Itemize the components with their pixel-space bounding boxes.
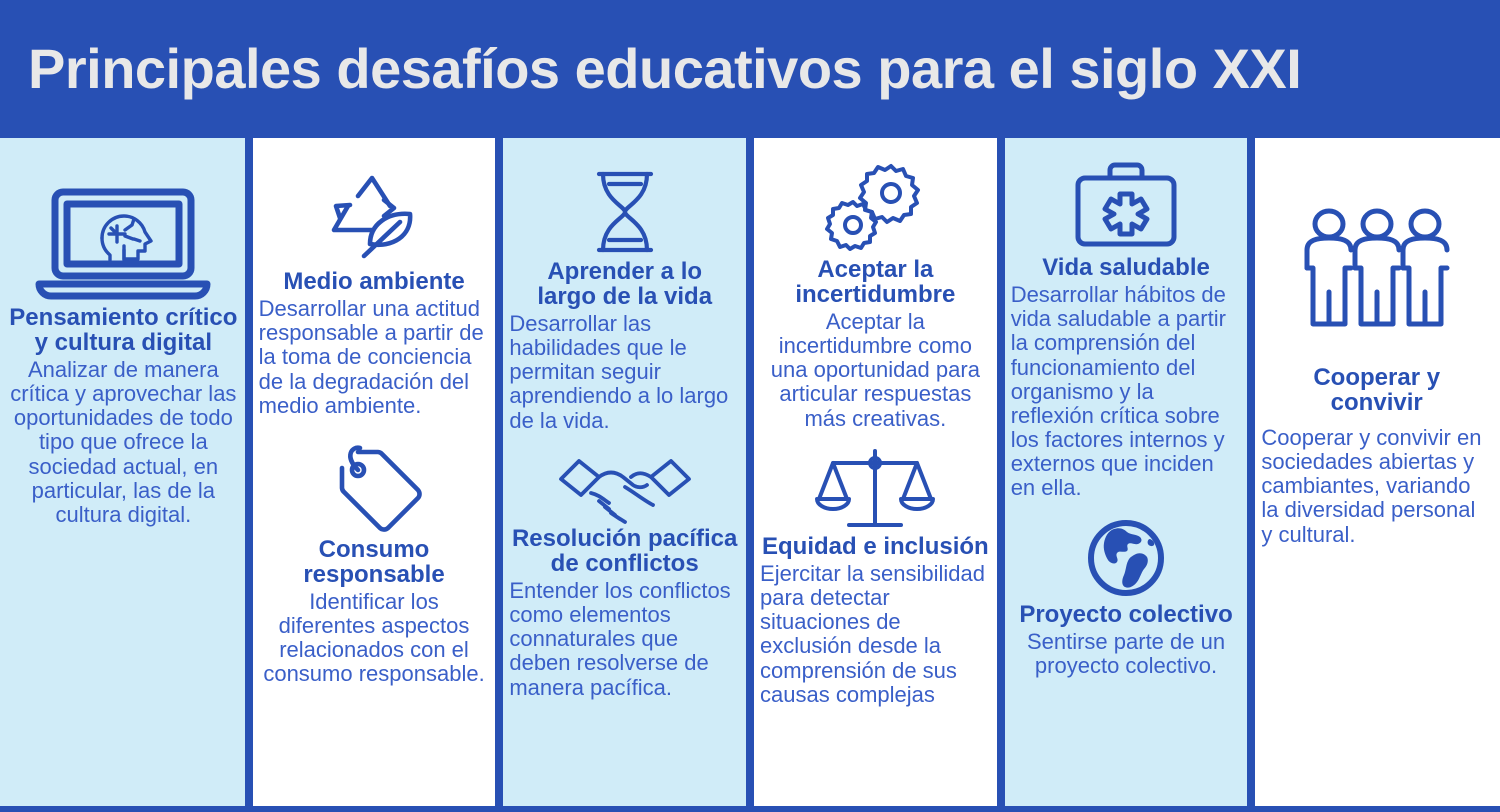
globe-icon [1011, 515, 1242, 601]
infographic-poster: Principales desafíos educativos para el … [0, 0, 1500, 812]
block-body: Entender los conflictos como elementos c… [509, 579, 740, 700]
block-title: Resolución pacíficade conflictos [512, 527, 737, 577]
block-body: Analizar de manera crítica y aprovechar … [8, 358, 239, 527]
block-resolucion-pacifica: Resolución pacíficade conflictos Entende… [509, 453, 740, 700]
column-pensamiento-critico: Pensamiento críticoy cultura digital Ana… [0, 138, 245, 806]
block-title: Cooperar yconvivir [1313, 366, 1440, 416]
laptop-brain-icon [8, 186, 239, 304]
block-cooperar-y-convivir: Cooperar yconvivir Cooperar y convivir e… [1261, 206, 1492, 547]
block-title: Medio ambiente [283, 270, 464, 295]
medical-kit-icon [1011, 160, 1242, 254]
block-title: Aceptar laincertidumbre [795, 258, 955, 308]
column-medio-ambiente-consumo: Medio ambiente Desarrollar una actitud r… [253, 138, 496, 806]
block-pensamiento-critico: Pensamiento críticoy cultura digital Ana… [8, 186, 239, 527]
block-body: Desarrollar una actitud responsable a pa… [259, 297, 490, 418]
block-body: Ejercitar la sensibilidad para detectar … [760, 562, 991, 707]
hourglass-icon [509, 166, 740, 258]
page-title: Principales desafíos educativos para el … [28, 41, 1301, 97]
block-body: Desarrollar las habilidades que le permi… [509, 312, 740, 433]
block-body: Desarrollar hábitos de vida saludable a … [1011, 283, 1242, 501]
gears-icon [760, 160, 991, 256]
poster-header: Principales desafíos educativos para el … [0, 0, 1500, 138]
block-body: Sentirse parte de un proyecto colectivo. [1011, 630, 1242, 678]
columns-container: Pensamiento críticoy cultura digital Ana… [0, 138, 1500, 812]
block-medio-ambiente: Medio ambiente Desarrollar una actitud r… [259, 172, 490, 418]
three-people-icon [1261, 206, 1492, 338]
block-title: Aprender a lolargo de la vida [537, 260, 712, 310]
block-aprender-a-lo-largo-de-la-vida: Aprender a lolargo de la vida Desarrolla… [509, 166, 740, 433]
block-body: Identificar los diferentes aspectos rela… [259, 590, 490, 687]
block-title: Proyecto colectivo [1019, 603, 1232, 628]
handshake-icon [509, 453, 740, 525]
column-vida-saludable-proyecto: Vida saludable Desarrollar hábitos de vi… [1005, 138, 1248, 806]
block-equidad-e-inclusion: Equidad e inclusión Ejercitar la sensibi… [760, 445, 991, 707]
column-cooperar-convivir: Cooperar yconvivir Cooperar y convivir e… [1255, 138, 1500, 806]
block-consumo-responsable: Consumoresponsable Identificar los difer… [259, 444, 490, 687]
block-title: Vida saludable [1042, 256, 1210, 281]
recycle-leaf-icon [259, 172, 490, 268]
block-aceptar-la-incertidumbre: Aceptar laincertidumbre Aceptar la incer… [760, 160, 991, 431]
price-tag-icon [259, 444, 490, 536]
scales-balance-icon [760, 445, 991, 533]
block-body: Aceptar la incertidumbre como una oportu… [760, 310, 991, 431]
block-proyecto-colectivo: Proyecto colectivo Sentirse parte de un … [1011, 515, 1242, 678]
block-title: Consumoresponsable [303, 538, 444, 588]
column-aprender-resolucion: Aprender a lolargo de la vida Desarrolla… [503, 138, 746, 806]
block-vida-saludable: Vida saludable Desarrollar hábitos de vi… [1011, 160, 1242, 501]
block-title: Pensamiento críticoy cultura digital [9, 306, 237, 356]
column-incertidumbre-equidad: Aceptar laincertidumbre Aceptar la incer… [754, 138, 997, 806]
block-body: Cooperar y convivir en sociedades abiert… [1261, 426, 1492, 547]
block-title: Equidad e inclusión [762, 535, 989, 560]
